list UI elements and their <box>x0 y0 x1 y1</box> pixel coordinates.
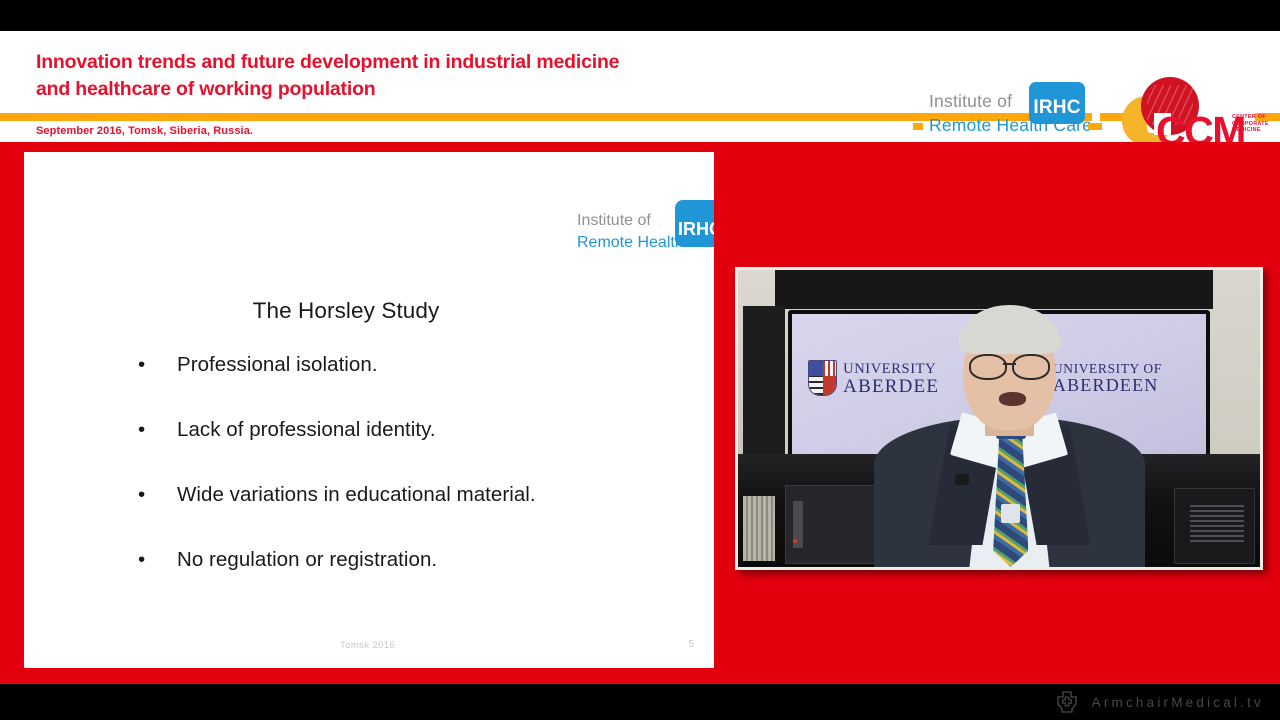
list-item: • Wide variations in educational materia… <box>24 482 714 547</box>
speaker-striped-tie <box>993 430 1028 567</box>
speaker-figure <box>874 294 1145 567</box>
screenshot-viewport: Innovation trends and future development… <box>0 0 1280 720</box>
irhc-logo-line-2: Remote Health Care <box>929 115 1092 136</box>
slide-logo-line-2: Remote Healthcare <box>577 234 714 252</box>
speaker-hair <box>958 305 1061 354</box>
watermark: ArmchairMedical.tv <box>1054 690 1264 714</box>
list-item: • Professional isolation. <box>24 352 714 417</box>
ccm-tagline-line-2: CORPORATE <box>1232 121 1269 128</box>
speaker-video-panel[interactable]: UNIVERSITY ABERDEE UNIVERSITY OF ABERDEE… <box>735 267 1263 570</box>
bullet-marker-icon: • <box>138 547 145 573</box>
speaker-lapel-microphone <box>955 474 969 485</box>
top-letterbox-bar <box>0 0 1280 31</box>
crest-quadrant-3 <box>809 376 823 396</box>
irhc-dash-right-icon <box>1088 123 1102 130</box>
bullet-text: No regulation or registration. <box>177 547 437 573</box>
slide-title-text: The Horsley Study <box>253 298 440 324</box>
slide-page-number: 5 <box>24 639 714 650</box>
video-speaker-column <box>743 306 785 460</box>
speaker-tie-pin <box>1001 504 1020 523</box>
speaker-mouth <box>999 392 1026 406</box>
page-title-line-1: Innovation trends and future development… <box>36 49 796 76</box>
list-item: • No regulation or registration. <box>24 547 714 612</box>
page-title-line-2: and healthcare of working population <box>36 76 796 103</box>
ccm-tagline-line-1: CENTER OF <box>1232 114 1269 121</box>
slide-bullet-list: • Professional isolation. • Lack of prof… <box>24 352 714 612</box>
header-subtitle: September 2016, Tomsk, Siberia, Russia. <box>36 125 253 137</box>
ccm-tagline-line-3: MEDICINE <box>1232 127 1269 134</box>
page-title: Innovation trends and future development… <box>36 49 796 103</box>
bullet-text: Lack of professional identity. <box>177 417 436 443</box>
bullet-marker-icon: • <box>138 352 145 378</box>
slide-logo-line-1: Institute of <box>577 212 651 230</box>
crest-quadrant-1 <box>809 361 823 375</box>
bullet-text: Wide variations in educational material. <box>177 482 536 508</box>
medical-cross-icon <box>1054 690 1080 714</box>
bottom-red-strip <box>0 670 1280 684</box>
video-desk-phone <box>1174 488 1254 564</box>
video-books <box>743 496 774 561</box>
speaker-video[interactable]: UNIVERSITY ABERDEE UNIVERSITY OF ABERDEE… <box>738 270 1260 567</box>
presentation-slide[interactable]: Institute of IRHC Remote Healthcare The … <box>24 152 714 668</box>
speaker-glasses-icon <box>969 354 1050 376</box>
bullet-text: Professional isolation. <box>177 352 378 378</box>
crest-quadrant-4 <box>823 376 837 396</box>
presentation-header: Innovation trends and future development… <box>0 31 1280 142</box>
watermark-label: ArmchairMedical.tv <box>1092 695 1264 710</box>
crest-quadrant-2 <box>823 361 837 375</box>
irhc-logo-header: Institute of IRHC Remote Health Care <box>925 83 1085 142</box>
ccm-tagline: CENTER OF CORPORATE MEDICINE <box>1232 114 1269 134</box>
irhc-dash-left-icon <box>913 123 923 130</box>
bullet-marker-icon: • <box>138 417 145 443</box>
video-equipment-rack <box>785 485 881 564</box>
list-item: • Lack of professional identity. <box>24 417 714 482</box>
glasses-lens-right <box>1012 354 1050 380</box>
aberdeen-crest-icon <box>808 360 837 396</box>
irhc-logo-slide: Institute of IRHC Remote Healthcare <box>549 192 699 260</box>
glasses-lens-left <box>969 354 1007 380</box>
irhc-logo-line-1: Institute of <box>929 91 1012 112</box>
slide-title: The Horsley Study <box>24 298 714 324</box>
bullet-marker-icon: • <box>138 482 145 508</box>
ccm-logo-header: CCM CENTER OF CORPORATE MEDICINE <box>1120 75 1272 142</box>
